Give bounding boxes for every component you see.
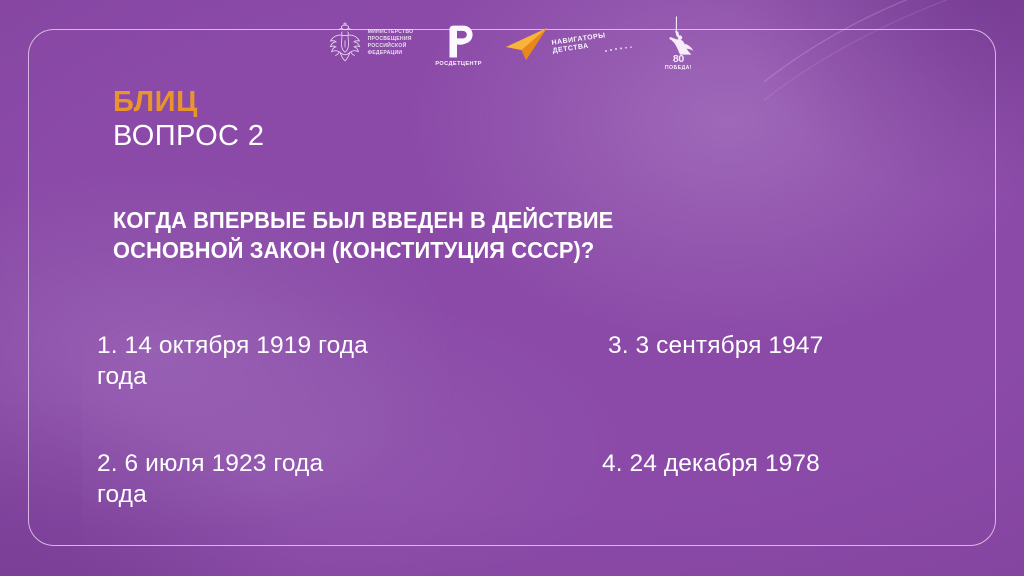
victory-logo-label: Победа! [665, 66, 692, 71]
answer-option-3[interactable]: 3. 3 сентября 1947 [602, 330, 927, 361]
dotted-trail-icon [604, 40, 638, 56]
victory-logo-number: 80 [673, 54, 684, 65]
question-text: КОГДА ВПЕРВЫЕ БЫЛ ВВЕДЕН В ДЕЙСТВИЕ ОСНО… [113, 205, 864, 266]
80-years-victory-logo: 80 Победа! [660, 16, 696, 76]
page-title: ВОПРОС 2 [113, 119, 264, 154]
answer-options-row-1: 1. 14 октября 1919 года года 3. 3 сентяб… [97, 330, 927, 393]
stylized-r-icon [442, 23, 476, 59]
answer-option-2[interactable]: 2. 6 июля 1923 года года [97, 448, 602, 511]
motherland-calls-statue-icon [660, 16, 696, 56]
rosdetcentr-logo: Росдетцентр [435, 16, 482, 74]
question-line-2: ОСНОВНОЙ ЗАКОН (КОНСТИТУЦИЯ СССР)? [113, 235, 864, 265]
quiz-slide: Министерство просвещения Российской Феде… [0, 0, 1024, 576]
paper-plane-icon [504, 23, 550, 65]
rosdetcentr-logo-label: Росдетцентр [435, 61, 482, 67]
ministry-of-education-logo: Министерство просвещения Российской Феде… [328, 16, 414, 70]
navigators-of-childhood-logo: Навигаторы детства [504, 16, 639, 72]
navigators-logo-label: Навигаторы детства [551, 32, 607, 56]
double-headed-eagle-icon [328, 21, 362, 65]
kicker-blitz: БЛИЦ [113, 86, 264, 118]
answer-option-1[interactable]: 1. 14 октября 1919 года года [97, 330, 602, 393]
question-line-1: КОГДА ВПЕРВЫЕ БЫЛ ВВЕДЕН В ДЕЙСТВИЕ [113, 205, 864, 235]
ministry-logo-label: Министерство просвещения Российской Феде… [368, 29, 414, 58]
heading-block: БЛИЦ ВОПРОС 2 [113, 86, 264, 154]
answer-options-row-2: 2. 6 июля 1923 года года 4. 24 декабря 1… [97, 448, 927, 511]
answer-options-grid: 1. 14 октября 1919 года года 3. 3 сентяб… [97, 330, 927, 510]
partner-logo-strip: Министерство просвещения Российской Феде… [0, 16, 1024, 82]
answer-option-4[interactable]: 4. 24 декабря 1978 [602, 448, 927, 479]
